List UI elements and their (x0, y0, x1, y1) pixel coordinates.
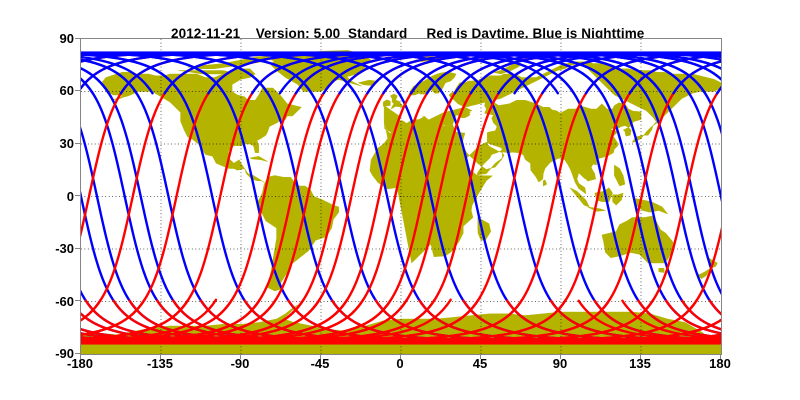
x-tick-mark (80, 354, 81, 359)
y-tick-mark (75, 353, 80, 354)
x-tick-mark (640, 354, 641, 359)
ground-track-figure: 2012-11-21 Version: 5.00 Standard Red is… (0, 0, 800, 400)
y-tick-label: -60 (14, 295, 74, 308)
y-tick-mark (75, 195, 80, 196)
polar-band-north-fill (81, 51, 721, 55)
y-tick-mark (75, 143, 80, 144)
polar-band-south-fill (81, 340, 721, 345)
y-tick-mark (75, 38, 80, 39)
x-tick-mark (480, 354, 481, 359)
world-map-svg (81, 39, 721, 354)
x-tick-mark (160, 354, 161, 359)
x-tick-mark (560, 354, 561, 359)
y-tick-label: 30 (14, 137, 74, 150)
y-tick-label: 60 (14, 84, 74, 97)
y-tick-mark (75, 248, 80, 249)
plot-area (80, 38, 722, 355)
y-tick-label: 90 (14, 32, 74, 45)
y-tick-mark (75, 90, 80, 91)
y-tick-label: 0 (14, 190, 74, 203)
x-tick-mark (240, 354, 241, 359)
x-tick-mark (720, 354, 721, 359)
x-tick-mark (400, 354, 401, 359)
landmass-tasmania (659, 268, 664, 272)
plot-clip (81, 39, 721, 354)
y-tick-mark (75, 300, 80, 301)
x-tick-mark (320, 354, 321, 359)
y-tick-label: -30 (14, 242, 74, 255)
